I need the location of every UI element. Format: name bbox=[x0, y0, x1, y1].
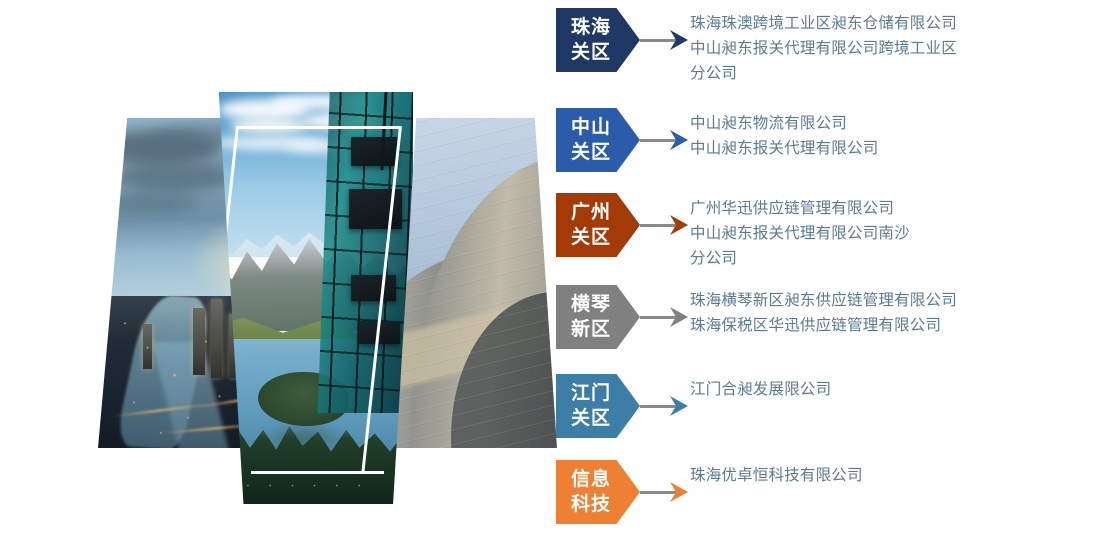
zone-badge-label-line: 中山 bbox=[571, 115, 611, 140]
zone-row-information-technology[interactable]: 信息 科技 珠海优卓恒科技有限公司 bbox=[556, 460, 1100, 524]
zone-row-zhuhai[interactable]: 珠海 关区 珠海珠澳跨境工业区昶东仓储有限公司 中山昶东报关代理有限公司跨境工业… bbox=[556, 8, 1100, 86]
zone-badge-zhuhai[interactable]: 珠海 关区 bbox=[556, 8, 640, 72]
zone-badge-label-line: 江门 bbox=[571, 381, 611, 406]
zone-badge-label-line: 珠海 bbox=[571, 15, 611, 40]
infographic-root: 珠海 关区 珠海珠澳跨境工业区昶东仓储有限公司 中山昶东报关代理有限公司跨境工业… bbox=[0, 0, 1100, 544]
company-name: 江门合昶发展限公司 bbox=[690, 377, 1100, 402]
company-list-zhongshan: 中山昶东物流有限公司 中山昶东报关代理有限公司 bbox=[690, 108, 1100, 161]
arrow-head-icon bbox=[670, 305, 688, 329]
company-name: 中山昶东报关代理有限公司 bbox=[690, 136, 1100, 161]
balcony-box bbox=[351, 275, 397, 301]
zone-badge-label-line: 横琴 bbox=[571, 292, 611, 317]
company-name: 珠海珠澳跨境工业区昶东仓储有限公司 bbox=[690, 11, 1100, 36]
balcony-box bbox=[359, 321, 400, 344]
arrow-connector bbox=[640, 374, 690, 438]
center-photo-image bbox=[214, 92, 413, 504]
company-name: 广州华迅供应链管理有限公司 bbox=[690, 196, 1100, 221]
cloud-shape bbox=[230, 118, 310, 133]
company-list-information-technology: 珠海优卓恒科技有限公司 bbox=[690, 460, 1100, 488]
shore-lights bbox=[234, 479, 373, 491]
arrow-head-icon bbox=[670, 128, 688, 152]
zone-badge-jiangmen[interactable]: 江门 关区 bbox=[556, 374, 640, 438]
zone-badge-label-line: 科技 bbox=[571, 492, 611, 517]
zone-badge-label-line: 关区 bbox=[571, 225, 611, 250]
zone-badge-label-line: 关区 bbox=[571, 40, 611, 65]
arrow-head-icon bbox=[670, 213, 688, 237]
company-name: 中山昶东报关代理有限公司跨境工业区 bbox=[690, 36, 1100, 61]
arrow-connector bbox=[640, 460, 690, 524]
arrow-connector bbox=[640, 8, 690, 72]
company-list-hengqin: 珠海横琴新区昶东供应链管理有限公司 珠海保税区华迅供应链管理有限公司 bbox=[690, 285, 1100, 338]
arrow-connector bbox=[640, 193, 690, 257]
zone-badge-label-line: 关区 bbox=[571, 140, 611, 165]
zone-row-zhongshan[interactable]: 中山 关区 中山昶东物流有限公司 中山昶东报关代理有限公司 bbox=[556, 108, 1100, 172]
company-list-jiangmen: 江门合昶发展限公司 bbox=[690, 374, 1100, 402]
zone-badge-zhongshan[interactable]: 中山 关区 bbox=[556, 108, 640, 172]
balcony-box bbox=[351, 137, 399, 167]
glass-building-facade bbox=[314, 92, 414, 413]
company-name: 中山昶东报关代理有限公司南沙 bbox=[690, 221, 1100, 246]
company-name: 珠海保税区华迅供应链管理有限公司 bbox=[690, 313, 1100, 338]
company-name: 中山昶东物流有限公司 bbox=[690, 111, 1100, 136]
zone-badge-label-line: 信息 bbox=[571, 467, 611, 492]
photo-collage bbox=[0, 0, 560, 544]
zone-list: 珠海 关区 珠海珠澳跨境工业区昶东仓储有限公司 中山昶东报关代理有限公司跨境工业… bbox=[556, 0, 1100, 544]
arrow-connector bbox=[640, 285, 690, 349]
zone-badge-guangzhou[interactable]: 广州 关区 bbox=[556, 193, 640, 257]
zone-row-guangzhou[interactable]: 广州 关区 广州华迅供应链管理有限公司 中山昶东报关代理有限公司南沙 分公司 bbox=[556, 193, 1100, 271]
company-list-guangzhou: 广州华迅供应链管理有限公司 中山昶东报关代理有限公司南沙 分公司 bbox=[690, 193, 1100, 271]
arrow-connector bbox=[640, 108, 690, 172]
arrow-head-icon bbox=[670, 480, 688, 504]
zone-badge-label-line: 广州 bbox=[571, 200, 611, 225]
zone-badge-hengqin[interactable]: 横琴 新区 bbox=[556, 285, 640, 349]
zone-badge-information-technology[interactable]: 信息 科技 bbox=[556, 460, 640, 524]
company-name: 珠海横琴新区昶东供应链管理有限公司 bbox=[690, 288, 1100, 313]
balcony-box bbox=[349, 189, 403, 229]
company-name: 分公司 bbox=[690, 246, 1100, 271]
company-name: 珠海优卓恒科技有限公司 bbox=[690, 463, 1100, 488]
zone-badge-label-line: 关区 bbox=[571, 406, 611, 431]
arrow-head-icon bbox=[670, 28, 688, 52]
arrow-head-icon bbox=[670, 394, 688, 418]
zone-badge-label-line: 新区 bbox=[571, 317, 611, 342]
company-name: 分公司 bbox=[690, 61, 1100, 86]
company-list-zhuhai: 珠海珠澳跨境工业区昶东仓储有限公司 中山昶东报关代理有限公司跨境工业区 分公司 bbox=[690, 8, 1100, 86]
zone-row-jiangmen[interactable]: 江门 关区 江门合昶发展限公司 bbox=[556, 374, 1100, 438]
zone-row-hengqin[interactable]: 横琴 新区 珠海横琴新区昶东供应链管理有限公司 珠海保税区华迅供应链管理有限公司 bbox=[556, 285, 1100, 349]
